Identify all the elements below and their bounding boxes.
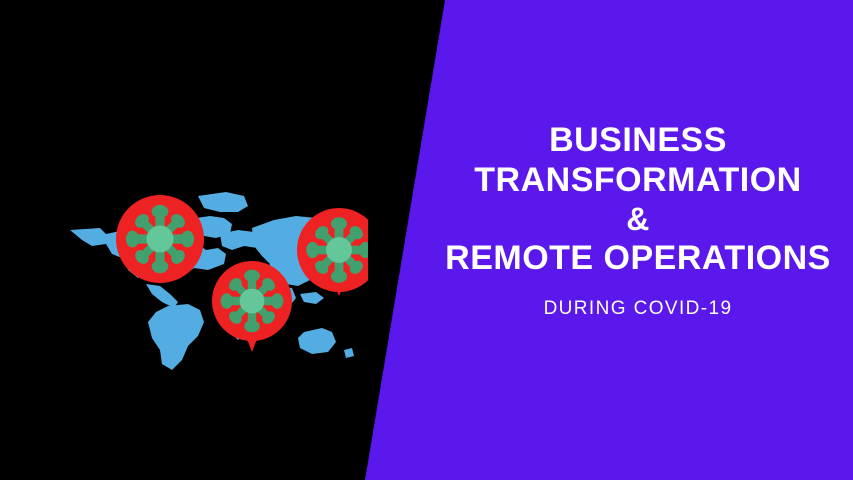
subtitle: DURING COVID-19 [430, 298, 846, 320]
landmass-indonesia [300, 292, 324, 304]
landmass-central-america [146, 284, 178, 308]
world-map-svg [48, 88, 368, 380]
headline-line-2: TRANSFORMATION [430, 160, 846, 200]
map-pin-europe-africa[interactable] [212, 261, 292, 352]
landmass-australia [298, 328, 336, 354]
slide-canvas: BUSINESS TRANSFORMATION & REMOTE OPERATI… [0, 0, 853, 480]
landmass-new-zealand [344, 348, 354, 358]
landmass-greenland [198, 192, 248, 212]
headline-line-4: REMOTE OPERATIONS [430, 238, 846, 278]
world-map-graphic [48, 88, 368, 380]
map-pin-north-america[interactable] [116, 195, 204, 283]
headline-block: BUSINESS TRANSFORMATION & REMOTE OPERATI… [430, 120, 846, 320]
headline-line-3: & [430, 200, 846, 238]
landmass-south-america [148, 304, 204, 370]
headline-line-1: BUSINESS [430, 120, 846, 160]
